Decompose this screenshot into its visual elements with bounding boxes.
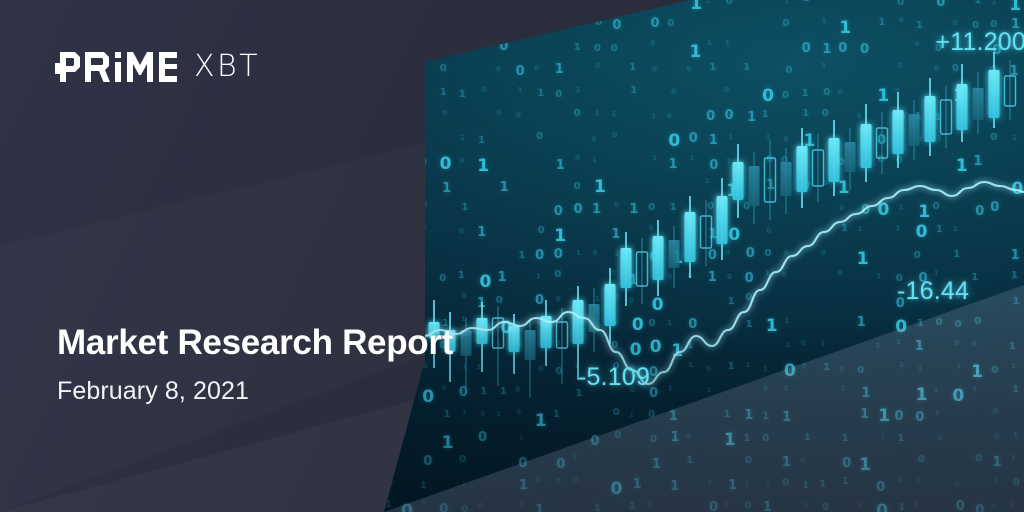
candle-body bbox=[573, 300, 584, 344]
page-title: Market Research Report bbox=[57, 322, 477, 363]
candle-body bbox=[477, 318, 488, 344]
annotation-mid-value: -16.44 bbox=[897, 277, 969, 306]
candle-body bbox=[989, 70, 1000, 118]
headline-block: Market Research Report February 8, 2021 bbox=[57, 322, 477, 406]
candle-group bbox=[429, 52, 1016, 398]
candle-body bbox=[845, 142, 856, 172]
candle-body bbox=[861, 124, 872, 168]
candle-body bbox=[605, 284, 616, 326]
candle-body bbox=[925, 96, 936, 142]
candle-body bbox=[893, 110, 904, 154]
candle-body bbox=[749, 166, 760, 206]
report-cover: 1110111010100001010001111100000101111000… bbox=[0, 0, 1024, 512]
candle-body bbox=[957, 84, 968, 130]
annotation-low-value: -5.109 bbox=[578, 363, 650, 392]
candle-body bbox=[621, 248, 632, 288]
candle-body bbox=[509, 326, 520, 352]
logo-prime-glyphs bbox=[55, 52, 177, 82]
candle-body bbox=[653, 236, 664, 280]
annotation-high-value: +11.200 bbox=[935, 28, 1024, 57]
primexbt-logo[interactable]: XBT bbox=[55, 49, 260, 84]
logo-xbt-wordmark: XBT bbox=[194, 49, 260, 84]
candle-body bbox=[733, 162, 744, 200]
candle-body bbox=[525, 330, 536, 360]
candle-body bbox=[781, 162, 792, 196]
logo-prime-wordmark bbox=[55, 52, 177, 82]
candle-body bbox=[829, 138, 840, 182]
candle-body bbox=[909, 114, 920, 146]
candle-body bbox=[973, 88, 984, 120]
candle-body bbox=[797, 146, 808, 192]
candle-body bbox=[669, 240, 680, 268]
candle-body bbox=[685, 212, 696, 262]
page-date: February 8, 2021 bbox=[57, 377, 477, 406]
candle-body bbox=[717, 196, 728, 244]
